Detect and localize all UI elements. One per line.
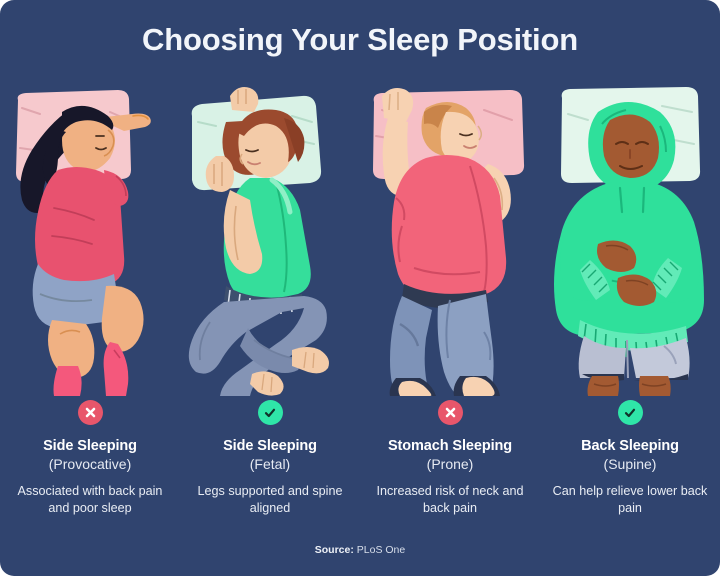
position-title: Side Sleeping bbox=[186, 437, 354, 455]
man-prone-stomach-illustration bbox=[360, 78, 540, 396]
figure-side-provocative bbox=[0, 78, 180, 396]
check-circle-icon bbox=[258, 400, 283, 425]
figure-back-supine bbox=[540, 78, 720, 396]
position-title: Stomach Sleeping bbox=[366, 437, 534, 455]
position-subtitle: (Provocative) bbox=[6, 455, 174, 474]
source-label: Source: bbox=[315, 544, 354, 556]
caption-stomach-prone: Stomach Sleeping (Prone) Increased risk … bbox=[360, 400, 540, 517]
caption-side-fetal: Side Sleeping (Fetal) Legs supported and… bbox=[180, 400, 360, 517]
page-title: Choosing Your Sleep Position bbox=[0, 20, 720, 60]
man-supine-back-illustration bbox=[540, 78, 720, 396]
figure-side-fetal bbox=[180, 78, 360, 396]
caption-side-provocative: Side Sleeping (Provocative) Associated w… bbox=[0, 400, 180, 517]
x-circle-icon bbox=[78, 400, 103, 425]
source-name: PLoS One bbox=[357, 544, 405, 556]
illustration-row bbox=[0, 78, 720, 396]
position-description: Associated with back pain and poor sleep bbox=[6, 483, 174, 517]
figure-stomach-prone bbox=[360, 78, 540, 396]
position-description: Increased risk of neck and back pain bbox=[366, 483, 534, 517]
position-description: Legs supported and spine aligned bbox=[186, 483, 354, 517]
position-subtitle: (Prone) bbox=[366, 455, 534, 474]
position-description: Can help relieve lower back pain bbox=[546, 483, 714, 517]
position-title: Back Sleeping bbox=[546, 437, 714, 455]
position-subtitle: (Fetal) bbox=[186, 455, 354, 474]
woman-fetal-position-illustration bbox=[180, 78, 360, 396]
position-title: Side Sleeping bbox=[6, 437, 174, 455]
source-attribution: Source: PLoS One bbox=[0, 543, 720, 557]
sleep-position-infographic: Choosing Your Sleep Position bbox=[0, 0, 720, 576]
position-subtitle: (Supine) bbox=[546, 455, 714, 474]
woman-side-sleeping-illustration bbox=[0, 78, 180, 396]
caption-row: Side Sleeping (Provocative) Associated w… bbox=[0, 400, 720, 517]
check-circle-icon bbox=[618, 400, 643, 425]
x-circle-icon bbox=[438, 400, 463, 425]
caption-back-supine: Back Sleeping (Supine) Can help relieve … bbox=[540, 400, 720, 517]
